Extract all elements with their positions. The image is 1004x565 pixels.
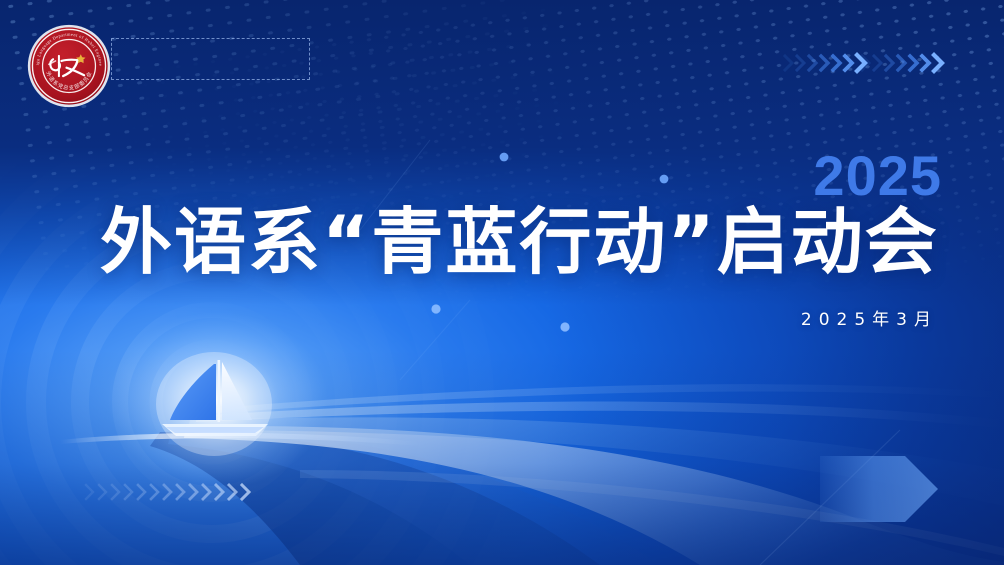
slide-title: 外语系“青蓝行动”启动会 — [100, 206, 939, 278]
department-seal-logo: Foreign Language Department of Hubei Eng… — [27, 24, 111, 108]
header-placeholder-box[interactable] — [111, 38, 310, 80]
date-label: 2025年3月 — [801, 312, 938, 329]
presentation-slide: Foreign Language Department of Hubei Eng… — [0, 0, 1004, 565]
year-label: 2025 — [813, 148, 942, 204]
